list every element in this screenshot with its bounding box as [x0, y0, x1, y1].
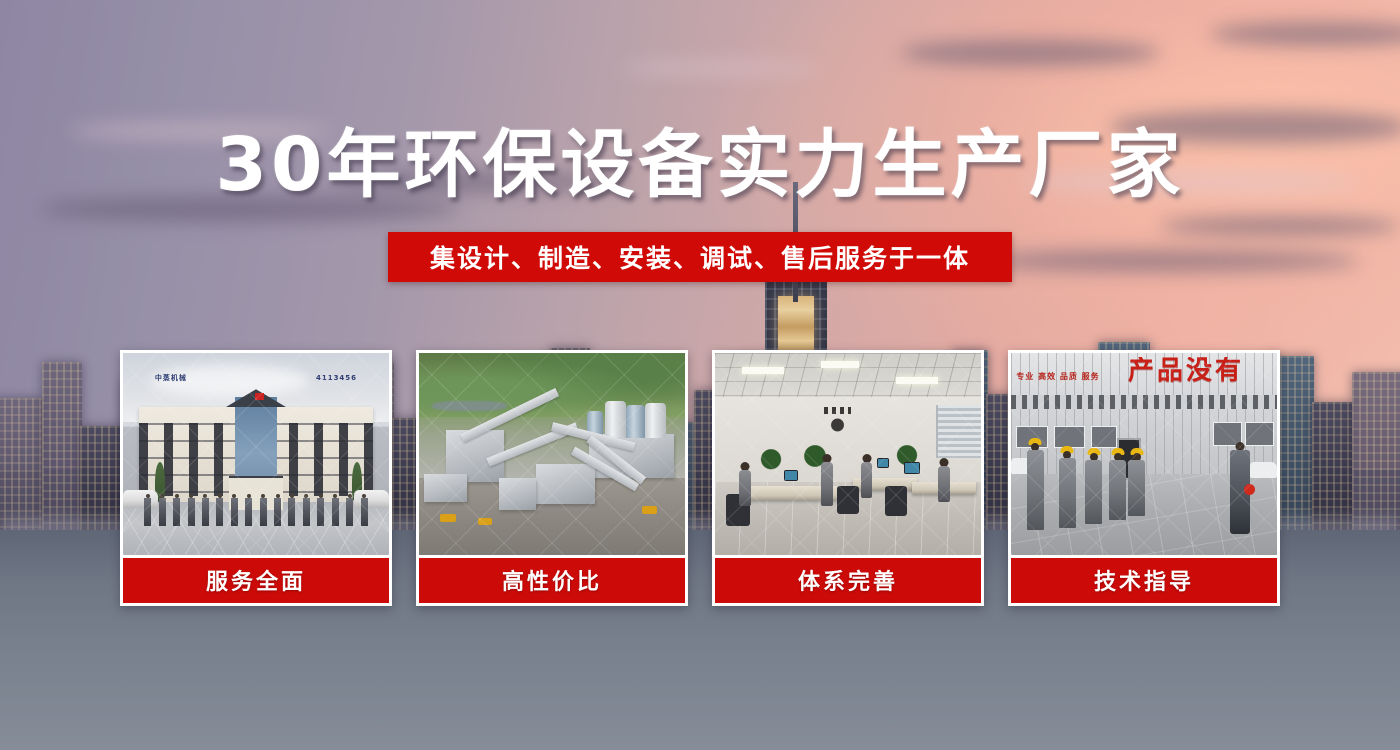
- building-sign: 中蒸机械 4113456: [155, 369, 357, 387]
- feature-card-label-text: 体系完善: [798, 564, 898, 596]
- feature-card[interactable]: 中蒸机械 4113456: [120, 350, 392, 606]
- feature-card[interactable]: 产品没有 专业 高效 品质 服务: [1008, 350, 1280, 606]
- factory-slogan: 产品没有: [1128, 357, 1277, 389]
- building-sign-name: 中蒸机械: [155, 373, 187, 383]
- feature-card[interactable]: 体系完善: [712, 350, 984, 606]
- worker: [1027, 438, 1044, 531]
- staff-row: [144, 494, 367, 526]
- feature-card[interactable]: 高性价比: [416, 350, 688, 606]
- worker: [1109, 448, 1126, 521]
- factory-sub-slogan: 专业 高效 品质 服务: [1016, 371, 1122, 395]
- production-plant-aerial-photo: [419, 353, 685, 555]
- subtitle-text: 集设计、制造、安装、调试、售后服务于一体: [430, 239, 970, 275]
- worker: [1059, 446, 1076, 529]
- supervisor: [1230, 442, 1250, 535]
- feature-card-list: 中蒸机械 4113456: [120, 350, 1280, 606]
- tower-crown-lights: [778, 296, 814, 352]
- subtitle-banner: 集设计、制造、安装、调试、售后服务于一体: [388, 232, 1012, 282]
- technical-training-photo: 产品没有 专业 高效 品质 服务: [1011, 353, 1277, 555]
- feature-card-label: 技术指导: [1011, 558, 1277, 603]
- worker: [1128, 448, 1145, 517]
- feature-card-label: 高性价比: [419, 558, 685, 603]
- feature-card-label-text: 服务全面: [206, 564, 306, 596]
- building-sign-phone: 4113456: [316, 374, 357, 382]
- feature-card-label: 服务全面: [123, 558, 389, 603]
- feature-card-label-text: 高性价比: [502, 564, 602, 596]
- office-workspace-photo: [715, 353, 981, 555]
- feature-card-label-text: 技术指导: [1094, 564, 1194, 596]
- feature-card-label: 体系完善: [715, 558, 981, 603]
- company-headquarters-photo: 中蒸机械 4113456: [123, 353, 389, 555]
- worker: [1085, 448, 1102, 525]
- promo-banner: 30年环保设备实力生产厂家 集设计、制造、安装、调试、售后服务于一体 中蒸机械 …: [0, 0, 1400, 750]
- page-title: 30年环保设备实力生产厂家: [0, 128, 1400, 202]
